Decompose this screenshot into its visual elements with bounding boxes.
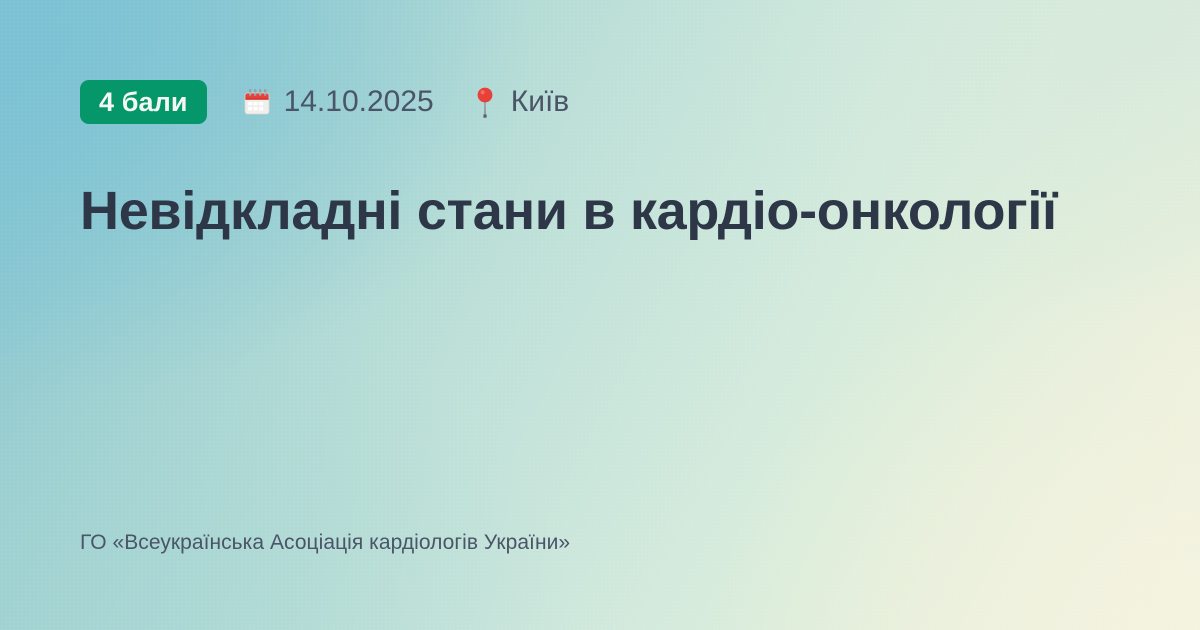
organizer-label: ГО «Всеукраїнська Асоціація кардіологів … bbox=[80, 529, 1120, 556]
calendar-icon bbox=[241, 86, 273, 118]
event-date: 14.10.2025 bbox=[241, 86, 434, 118]
credits-badge: 4 бали bbox=[80, 80, 207, 124]
event-share-card: 4 бали bbox=[0, 0, 1200, 630]
layout-spacer bbox=[80, 244, 1120, 529]
event-location: Київ bbox=[470, 85, 570, 119]
meta-row: 4 бали bbox=[80, 80, 1120, 124]
event-date-text: 14.10.2025 bbox=[284, 87, 434, 117]
event-location-text: Київ bbox=[511, 87, 570, 117]
card-content: 4 бали bbox=[0, 0, 1200, 630]
page-title: Невідкладні стани в кардіо-онкології bbox=[80, 124, 1120, 244]
map-pin-icon bbox=[470, 85, 500, 119]
